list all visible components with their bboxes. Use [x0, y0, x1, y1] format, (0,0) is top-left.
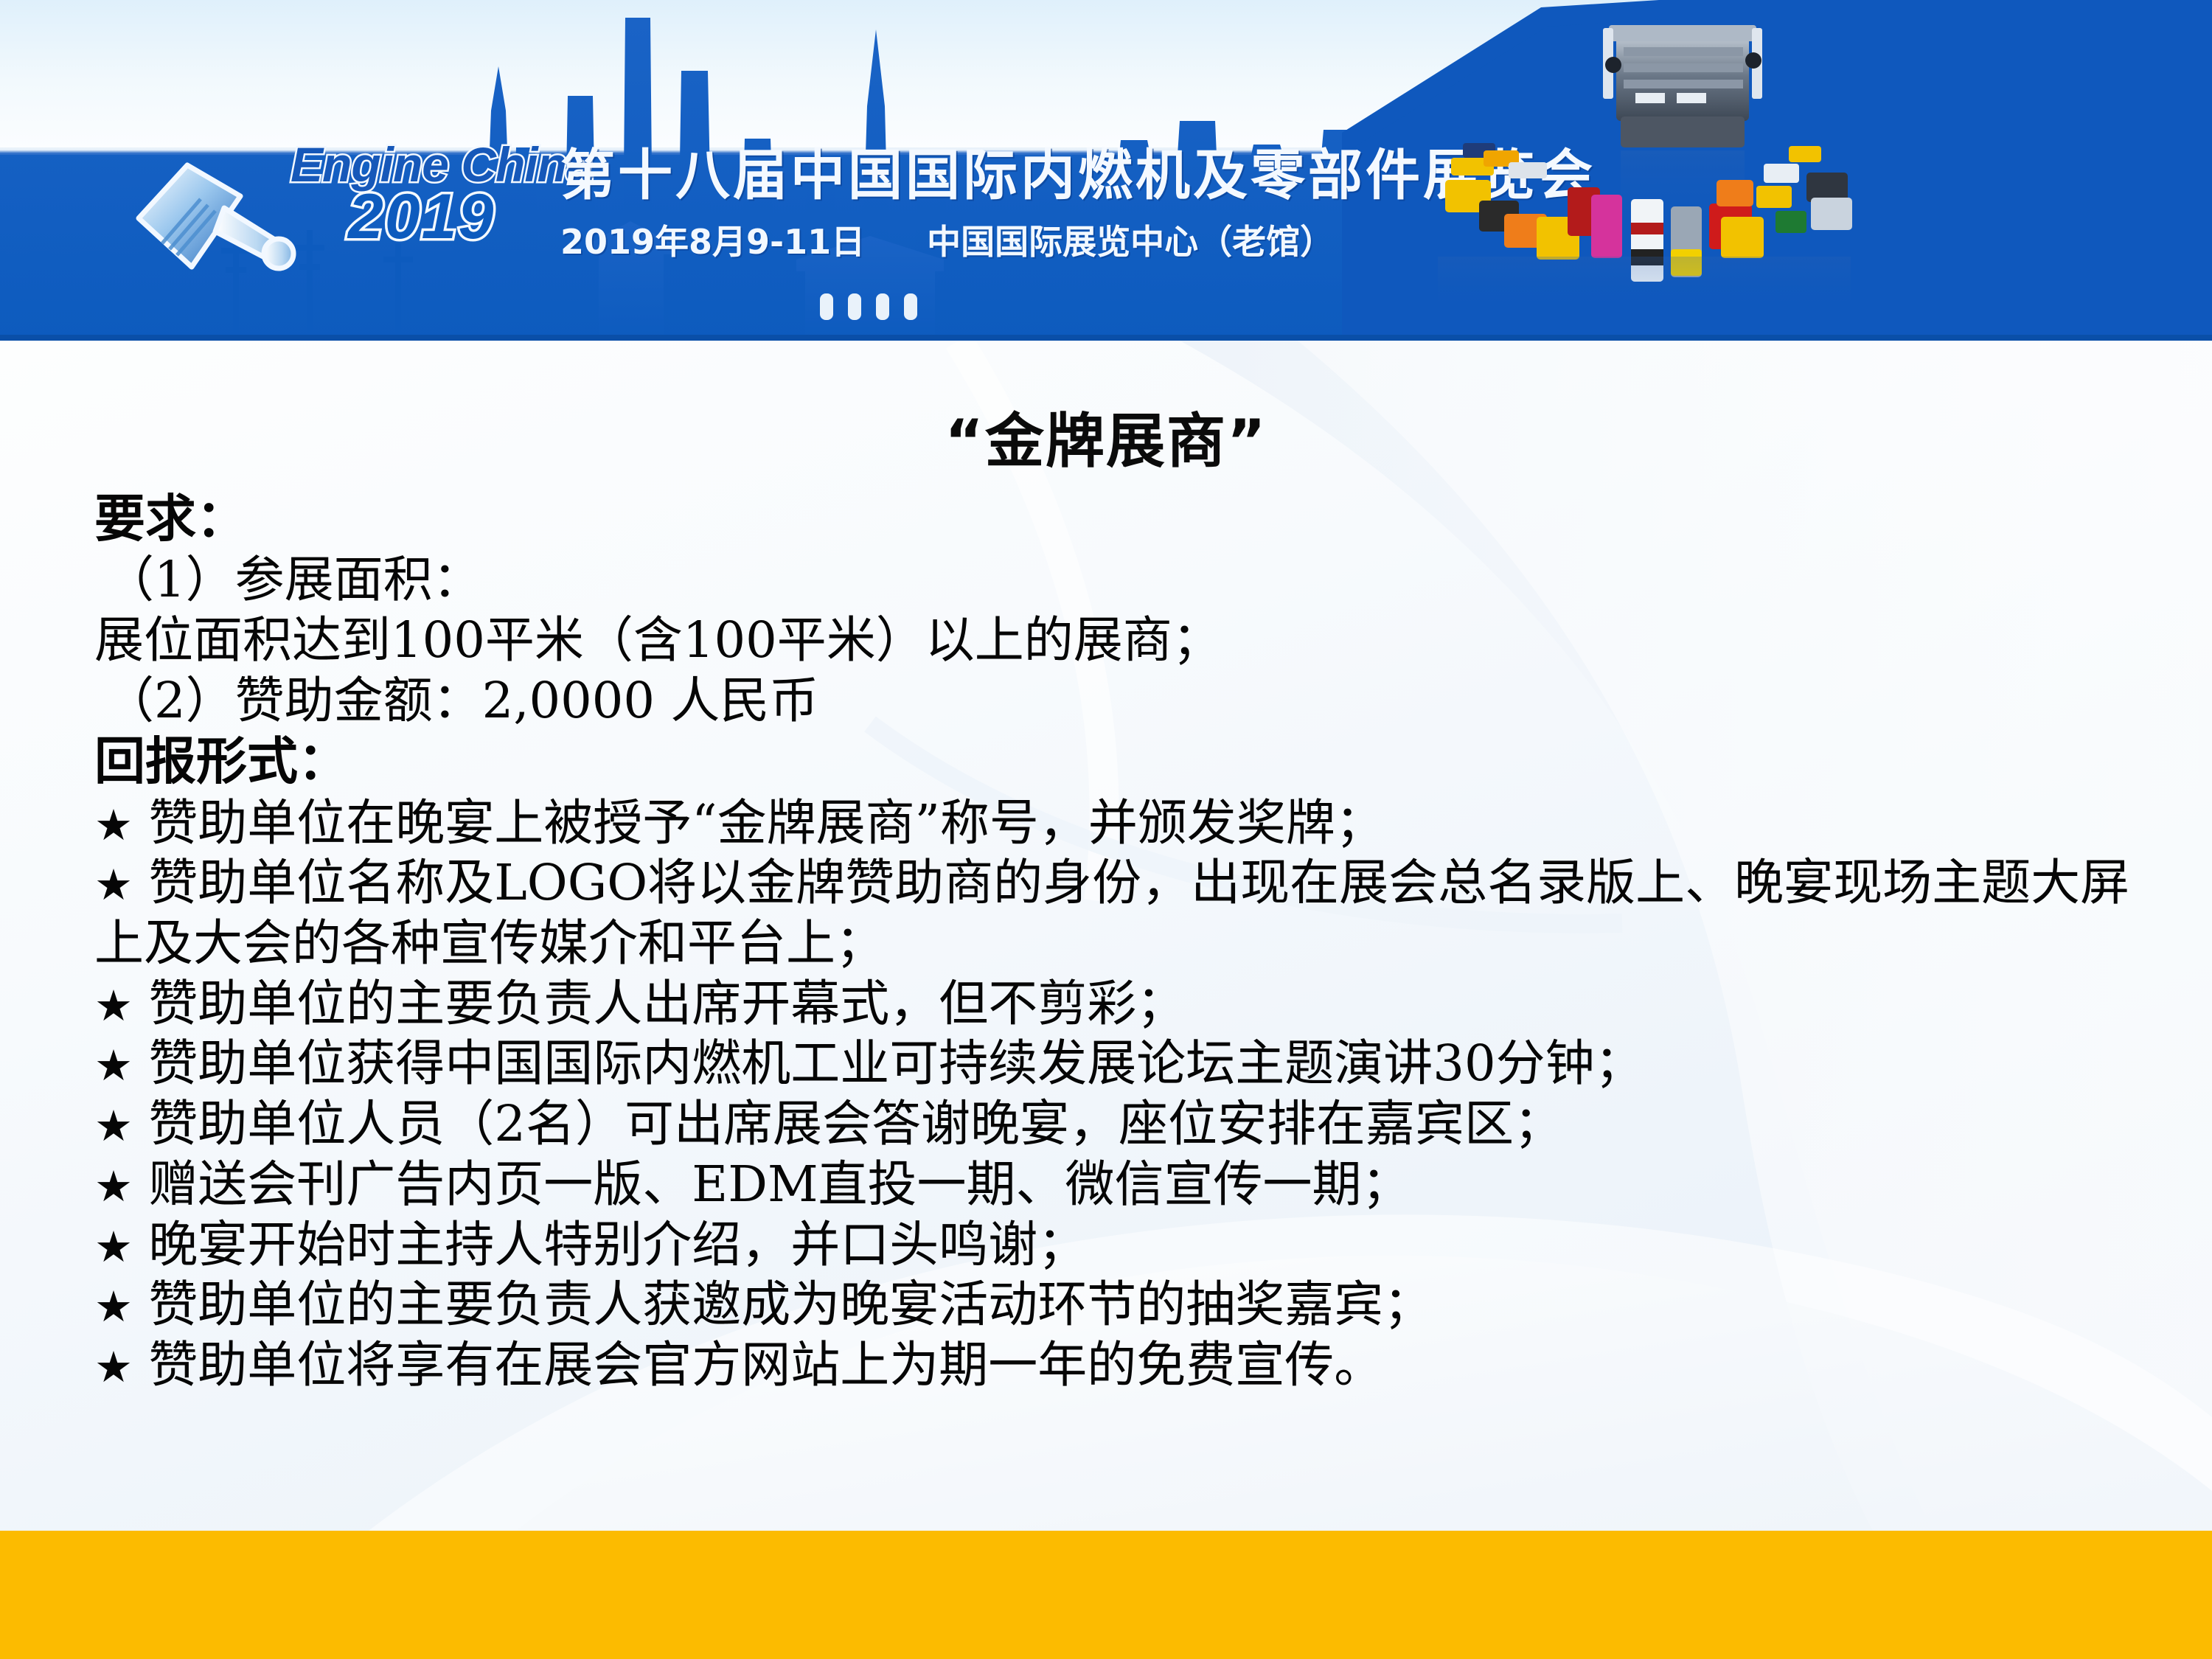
- benefit-item: ★ 赞助单位将享有在展会官方网站上为期一年的免费宣传。: [94, 1335, 2152, 1396]
- benefit-text: 赞助单位名称及LOGO将以金牌赞助商的身份，出现在展会总名录版上、晚宴现场主题大…: [94, 854, 2129, 972]
- banner-subline: 2019年8月9-11日 中国国际展览中心（老馆）: [560, 215, 1386, 264]
- requirement-item-2: 展位面积达到100平米（含100平米）以上的展商；: [94, 611, 2152, 671]
- star-bullet-icon: ★: [94, 1342, 133, 1392]
- slide-body: “金牌展商” 要求： （1）参展面积： 展位面积达到100平米（含100平米）以…: [0, 341, 2212, 1531]
- engine-block-icon: [1603, 25, 1762, 147]
- body-text-block: 要求： （1）参展面积： 展位面积达到100平米（含100平米）以上的展商； （…: [94, 488, 2152, 1396]
- star-bullet-icon: ★: [94, 860, 133, 910]
- benefit-item: ★ 赞助单位的主要负责人获邀成为晚宴活动环节的抽奖嘉宾；: [94, 1275, 2152, 1335]
- footer-bar: [0, 1531, 2212, 1659]
- star-bullet-icon: ★: [94, 1222, 133, 1272]
- benefit-text: 赞助单位人员（2名）可出席展会答谢晚宴，座位安排在嘉宾区；: [148, 1095, 1563, 1152]
- benefit-item: ★ 赠送会刊广告内页一版、EDM直投一期、微信宣传一期；: [94, 1155, 2152, 1215]
- star-bullet-icon: ★: [94, 1040, 133, 1091]
- benefit-item: ★ 晚宴开始时主持人特别介绍，并口头鸣谢；: [94, 1215, 2152, 1276]
- piston-connecting-rod-icon: [130, 150, 299, 291]
- star-bullet-icon: ★: [94, 1101, 133, 1151]
- engine-and-trucks-photo: [1423, 6, 1969, 330]
- benefit-item: ★ 赞助单位人员（2名）可出席展会答谢晚宴，座位安排在嘉宾区；: [94, 1094, 2152, 1155]
- exhibition-venue: 中国国际展览中心（老馆）: [927, 215, 1334, 264]
- benefit-text: 赞助单位在晚宴上被授予“金牌展商”称号，并颁发奖牌；: [148, 794, 1385, 852]
- requirement-item-3: （2）赞助金额：2,0000 人民币: [94, 671, 2152, 731]
- benefit-text: 赞助单位获得中国国际内燃机工业可持续发展论坛主题演讲30分钟；: [148, 1034, 1644, 1092]
- star-bullet-icon: ★: [94, 800, 133, 850]
- star-bullet-icon: ★: [94, 1161, 133, 1211]
- benefit-text: 赞助单位将享有在展会官方网站上为期一年的免费宣传。: [148, 1336, 1383, 1394]
- logo-text-block: Engine China 2019: [291, 140, 526, 248]
- star-bullet-icon: ★: [94, 981, 133, 1031]
- exhibition-title: 第十八届中国国际内燃机及零部件展览会: [560, 147, 1386, 205]
- requirement-item-1: （1）参展面积：: [94, 550, 2152, 611]
- banner-text-block: 第十八届中国国际内燃机及零部件展览会 2019年8月9-11日 中国国际展览中心…: [560, 147, 1386, 264]
- benefit-item: ★ 赞助单位获得中国国际内燃机工业可持续发展论坛主题演讲30分钟；: [94, 1034, 2152, 1094]
- presentation-slide: Engine China 2019 第十八届中国国际内燃机及零部件展览会 201…: [0, 0, 2212, 1659]
- benefit-text: 赞助单位的主要负责人出席开幕式，但不剪彩；: [148, 975, 1186, 1032]
- banner-bottom-rule: [0, 335, 2212, 341]
- logo-year-text: 2019: [348, 185, 526, 248]
- benefit-item: ★ 赞助单位的主要负责人出席开幕式，但不剪彩；: [94, 974, 2152, 1034]
- requirements-heading: 要求：: [94, 488, 2152, 550]
- benefit-item: ★ 赞助单位名称及LOGO将以金牌赞助商的身份，出现在展会总名录版上、晚宴现场主…: [94, 853, 2152, 973]
- star-bullet-icon: ★: [94, 1281, 133, 1332]
- header-banner: Engine China 2019 第十八届中国国际内燃机及零部件展览会 201…: [0, 0, 2212, 341]
- exhibition-dates: 2019年8月9-11日: [560, 215, 865, 264]
- benefits-heading: 回报形式：: [94, 731, 2152, 793]
- benefit-item: ★ 赞助单位在晚宴上被授予“金牌展商”称号，并颁发奖牌；: [94, 793, 2152, 854]
- benefit-text: 赠送会刊广告内页一版、EDM直投一期、微信宣传一期；: [148, 1155, 1411, 1213]
- benefit-text: 晚宴开始时主持人特别介绍，并口头鸣谢；: [148, 1216, 1087, 1273]
- benefit-text: 赞助单位的主要负责人获邀成为晚宴活动环节的抽奖嘉宾；: [148, 1276, 1433, 1333]
- engine-china-logo: Engine China 2019: [130, 142, 513, 296]
- page-title: “金牌展商”: [0, 394, 2212, 479]
